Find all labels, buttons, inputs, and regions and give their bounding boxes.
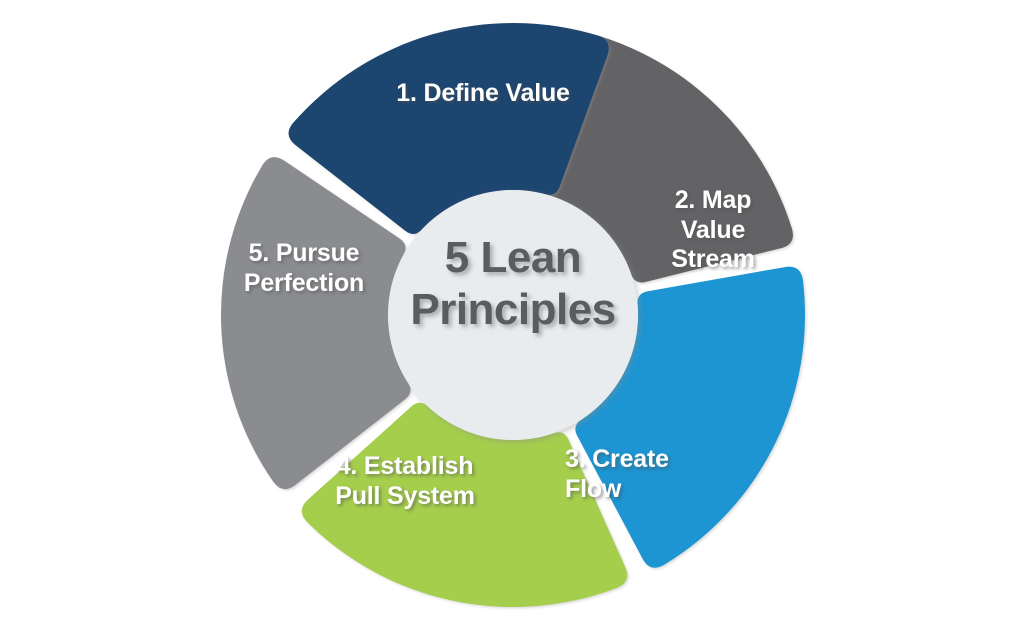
lean-principles-wheel — [0, 0, 1024, 635]
diagram-canvas: 1. Define Value 2. Map Value Stream 3. C… — [0, 0, 1024, 635]
center-circle — [388, 190, 638, 440]
